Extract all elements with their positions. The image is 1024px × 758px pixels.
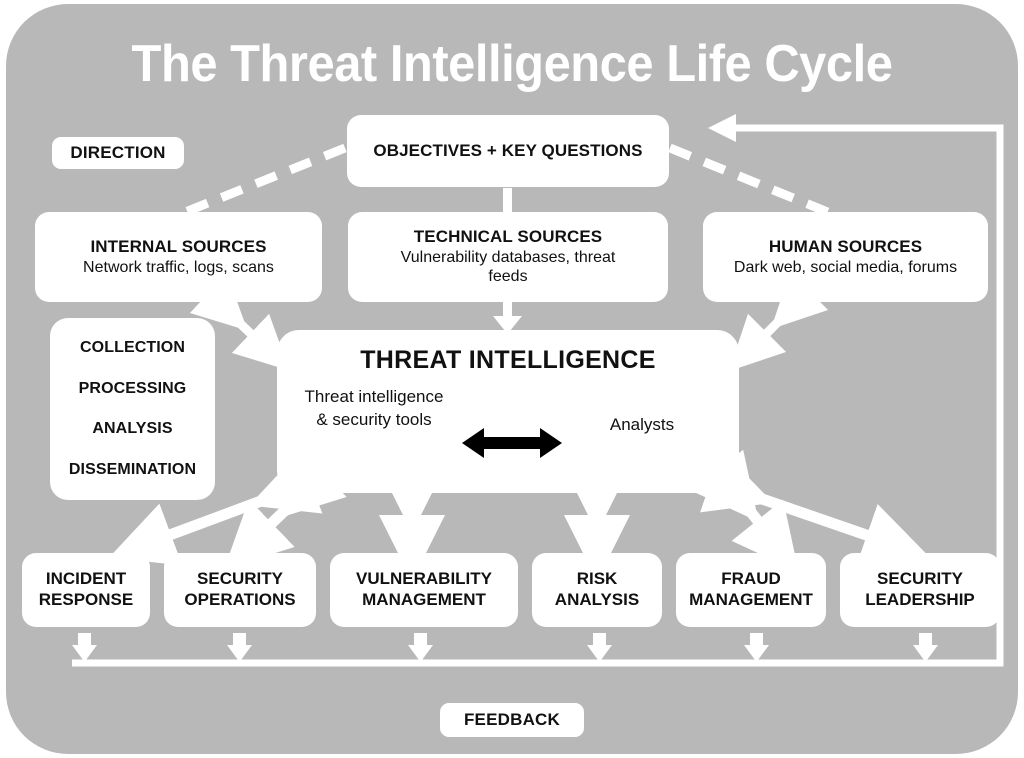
technical-sources-box: TECHNICAL SOURCES Vulnerability database… <box>348 212 668 302</box>
human-sources-title: HUMAN SOURCES <box>769 237 922 258</box>
consumer-fraud-management: FRAUD MANAGEMENT <box>676 553 826 627</box>
stage-dissemination: DISSEMINATION <box>69 461 196 479</box>
threat-intelligence-title: THREAT INTELLIGENCE <box>277 346 739 375</box>
tools-label: Threat intelligence & security tools <box>299 386 449 432</box>
stage-processing: PROCESSING <box>79 380 187 398</box>
lifecycle-stages-box: COLLECTION PROCESSING ANALYSIS DISSEMINA… <box>50 318 215 500</box>
direction-label: DIRECTION <box>52 137 184 169</box>
internal-sources-title: INTERNAL SOURCES <box>90 237 266 258</box>
stage-collection: COLLECTION <box>80 339 185 357</box>
consumer-risk-analysis: RISK ANALYSIS <box>532 553 662 627</box>
technical-sources-detail: Vulnerability databases, threat feeds <box>383 248 633 287</box>
consumer-incident-response: INCIDENT RESPONSE <box>22 553 150 627</box>
stage-analysis: ANALYSIS <box>92 420 172 438</box>
consumer-label: FRAUD MANAGEMENT <box>682 569 820 610</box>
objectives-label: OBJECTIVES + KEY QUESTIONS <box>373 141 642 162</box>
consumer-label: RISK ANALYSIS <box>538 569 656 610</box>
diagram-canvas: The Threat Intelligence Life Cycle DIREC… <box>0 0 1024 758</box>
human-sources-detail: Dark web, social media, forums <box>734 258 957 278</box>
threat-intelligence-box: THREAT INTELLIGENCE Threat intelligence … <box>277 330 739 493</box>
page-title: The Threat Intelligence Life Cycle <box>31 34 994 94</box>
consumer-label: VULNERABILITY MANAGEMENT <box>336 569 512 610</box>
consumer-label: SECURITY OPERATIONS <box>170 569 310 610</box>
consumer-security-leadership: SECURITY LEADERSHIP <box>840 553 1000 627</box>
analysts-label: Analysts <box>567 415 717 435</box>
internal-sources-box: INTERNAL SOURCES Network traffic, logs, … <box>35 212 322 302</box>
internal-sources-detail: Network traffic, logs, scans <box>83 258 274 278</box>
consumer-label: INCIDENT RESPONSE <box>28 569 144 610</box>
feedback-label: FEEDBACK <box>440 703 584 737</box>
bidirectional-exchange-arrow-icon <box>462 426 562 460</box>
consumer-vulnerability-management: VULNERABILITY MANAGEMENT <box>330 553 518 627</box>
technical-sources-title: TECHNICAL SOURCES <box>414 227 602 248</box>
objectives-box: OBJECTIVES + KEY QUESTIONS <box>347 115 669 187</box>
human-sources-box: HUMAN SOURCES Dark web, social media, fo… <box>703 212 988 302</box>
consumer-label: SECURITY LEADERSHIP <box>846 569 994 610</box>
consumer-security-operations: SECURITY OPERATIONS <box>164 553 316 627</box>
